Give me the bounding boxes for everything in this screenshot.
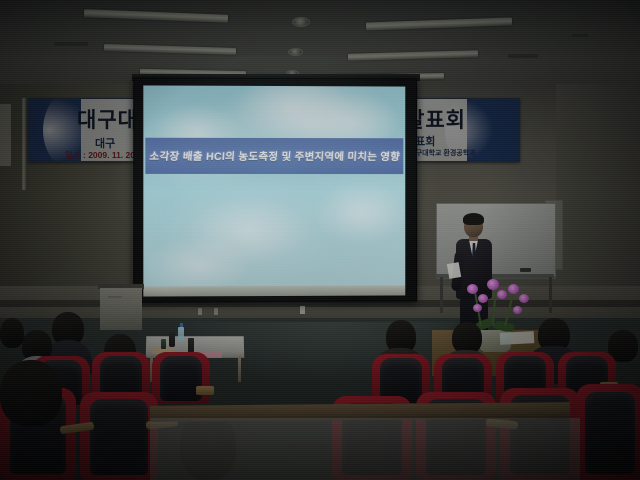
slide-surface: 소각장 배출 HCl의 농도측정 및 주변지역에 미치는 영향 (143, 85, 405, 286)
orchid-flower (519, 294, 529, 303)
dark-bottle (169, 332, 175, 347)
whiteboard-leg (440, 277, 443, 313)
projection-screen: 소각장 배출 HCl의 농도측정 및 주변지역에 미치는 영향 (133, 77, 417, 302)
orchid-flower (467, 284, 478, 294)
cabinet-vent (108, 296, 122, 298)
screen-bottom-edge (143, 285, 405, 296)
table-leg (238, 356, 241, 382)
orchid-flower (487, 279, 499, 290)
audience-head (0, 318, 24, 348)
auditorium-seat[interactable] (80, 392, 158, 480)
ceiling-speaker-icon (288, 48, 303, 56)
presenter-hair (463, 213, 484, 225)
step-face (150, 418, 580, 480)
wall-poster (0, 104, 11, 166)
wall-banner-right: 발표회 발표회 : 대구대학교 환경공학과 (402, 98, 520, 162)
slide-title-text: 소각장 배출 HCl의 농도측정 및 주변지역에 미치는 영향 (149, 148, 401, 163)
ceiling-vent (572, 34, 588, 37)
orchid-flower (497, 290, 507, 299)
water-bottle (178, 327, 184, 342)
slide-title-bar: 소각장 배출 HCl의 농도측정 및 주변지역에 미치는 영향 (145, 138, 403, 174)
orchid-flower (508, 284, 519, 294)
banner-left-main-text: 대구대 (77, 110, 138, 131)
ceiling-vent (54, 42, 88, 46)
wall-cabinet (100, 288, 142, 330)
seat-cushion (90, 399, 148, 475)
dark-bottle (188, 338, 194, 353)
ceiling-speaker-icon (292, 17, 310, 27)
presenter-papers (447, 262, 461, 279)
wall-marker (198, 308, 202, 315)
whiteboard-marker (520, 268, 531, 272)
orchid-pot (479, 330, 511, 352)
whiteboard-leg (549, 277, 552, 313)
wall-pipe (22, 98, 26, 190)
audience-hair (0, 360, 62, 426)
ceiling-vent (508, 54, 538, 58)
wall-marker (214, 308, 218, 315)
audience-head (0, 360, 62, 426)
auditorium-seat[interactable] (576, 384, 640, 480)
seat-tablet-arm[interactable] (196, 386, 214, 395)
lecture-hall-photo: 대구대 대구 일시 : 2009. 11. 20(금) 발표회 발표회 : 대구… (0, 0, 640, 480)
green-can (161, 339, 166, 349)
seat-cushion (585, 392, 635, 475)
orchid-flower (513, 306, 522, 314)
audience-hair (0, 318, 24, 348)
orchid-flower (478, 294, 488, 303)
orchid-flower (473, 304, 482, 312)
wall-outlet (300, 306, 305, 314)
auditorium-seat[interactable] (152, 352, 210, 404)
